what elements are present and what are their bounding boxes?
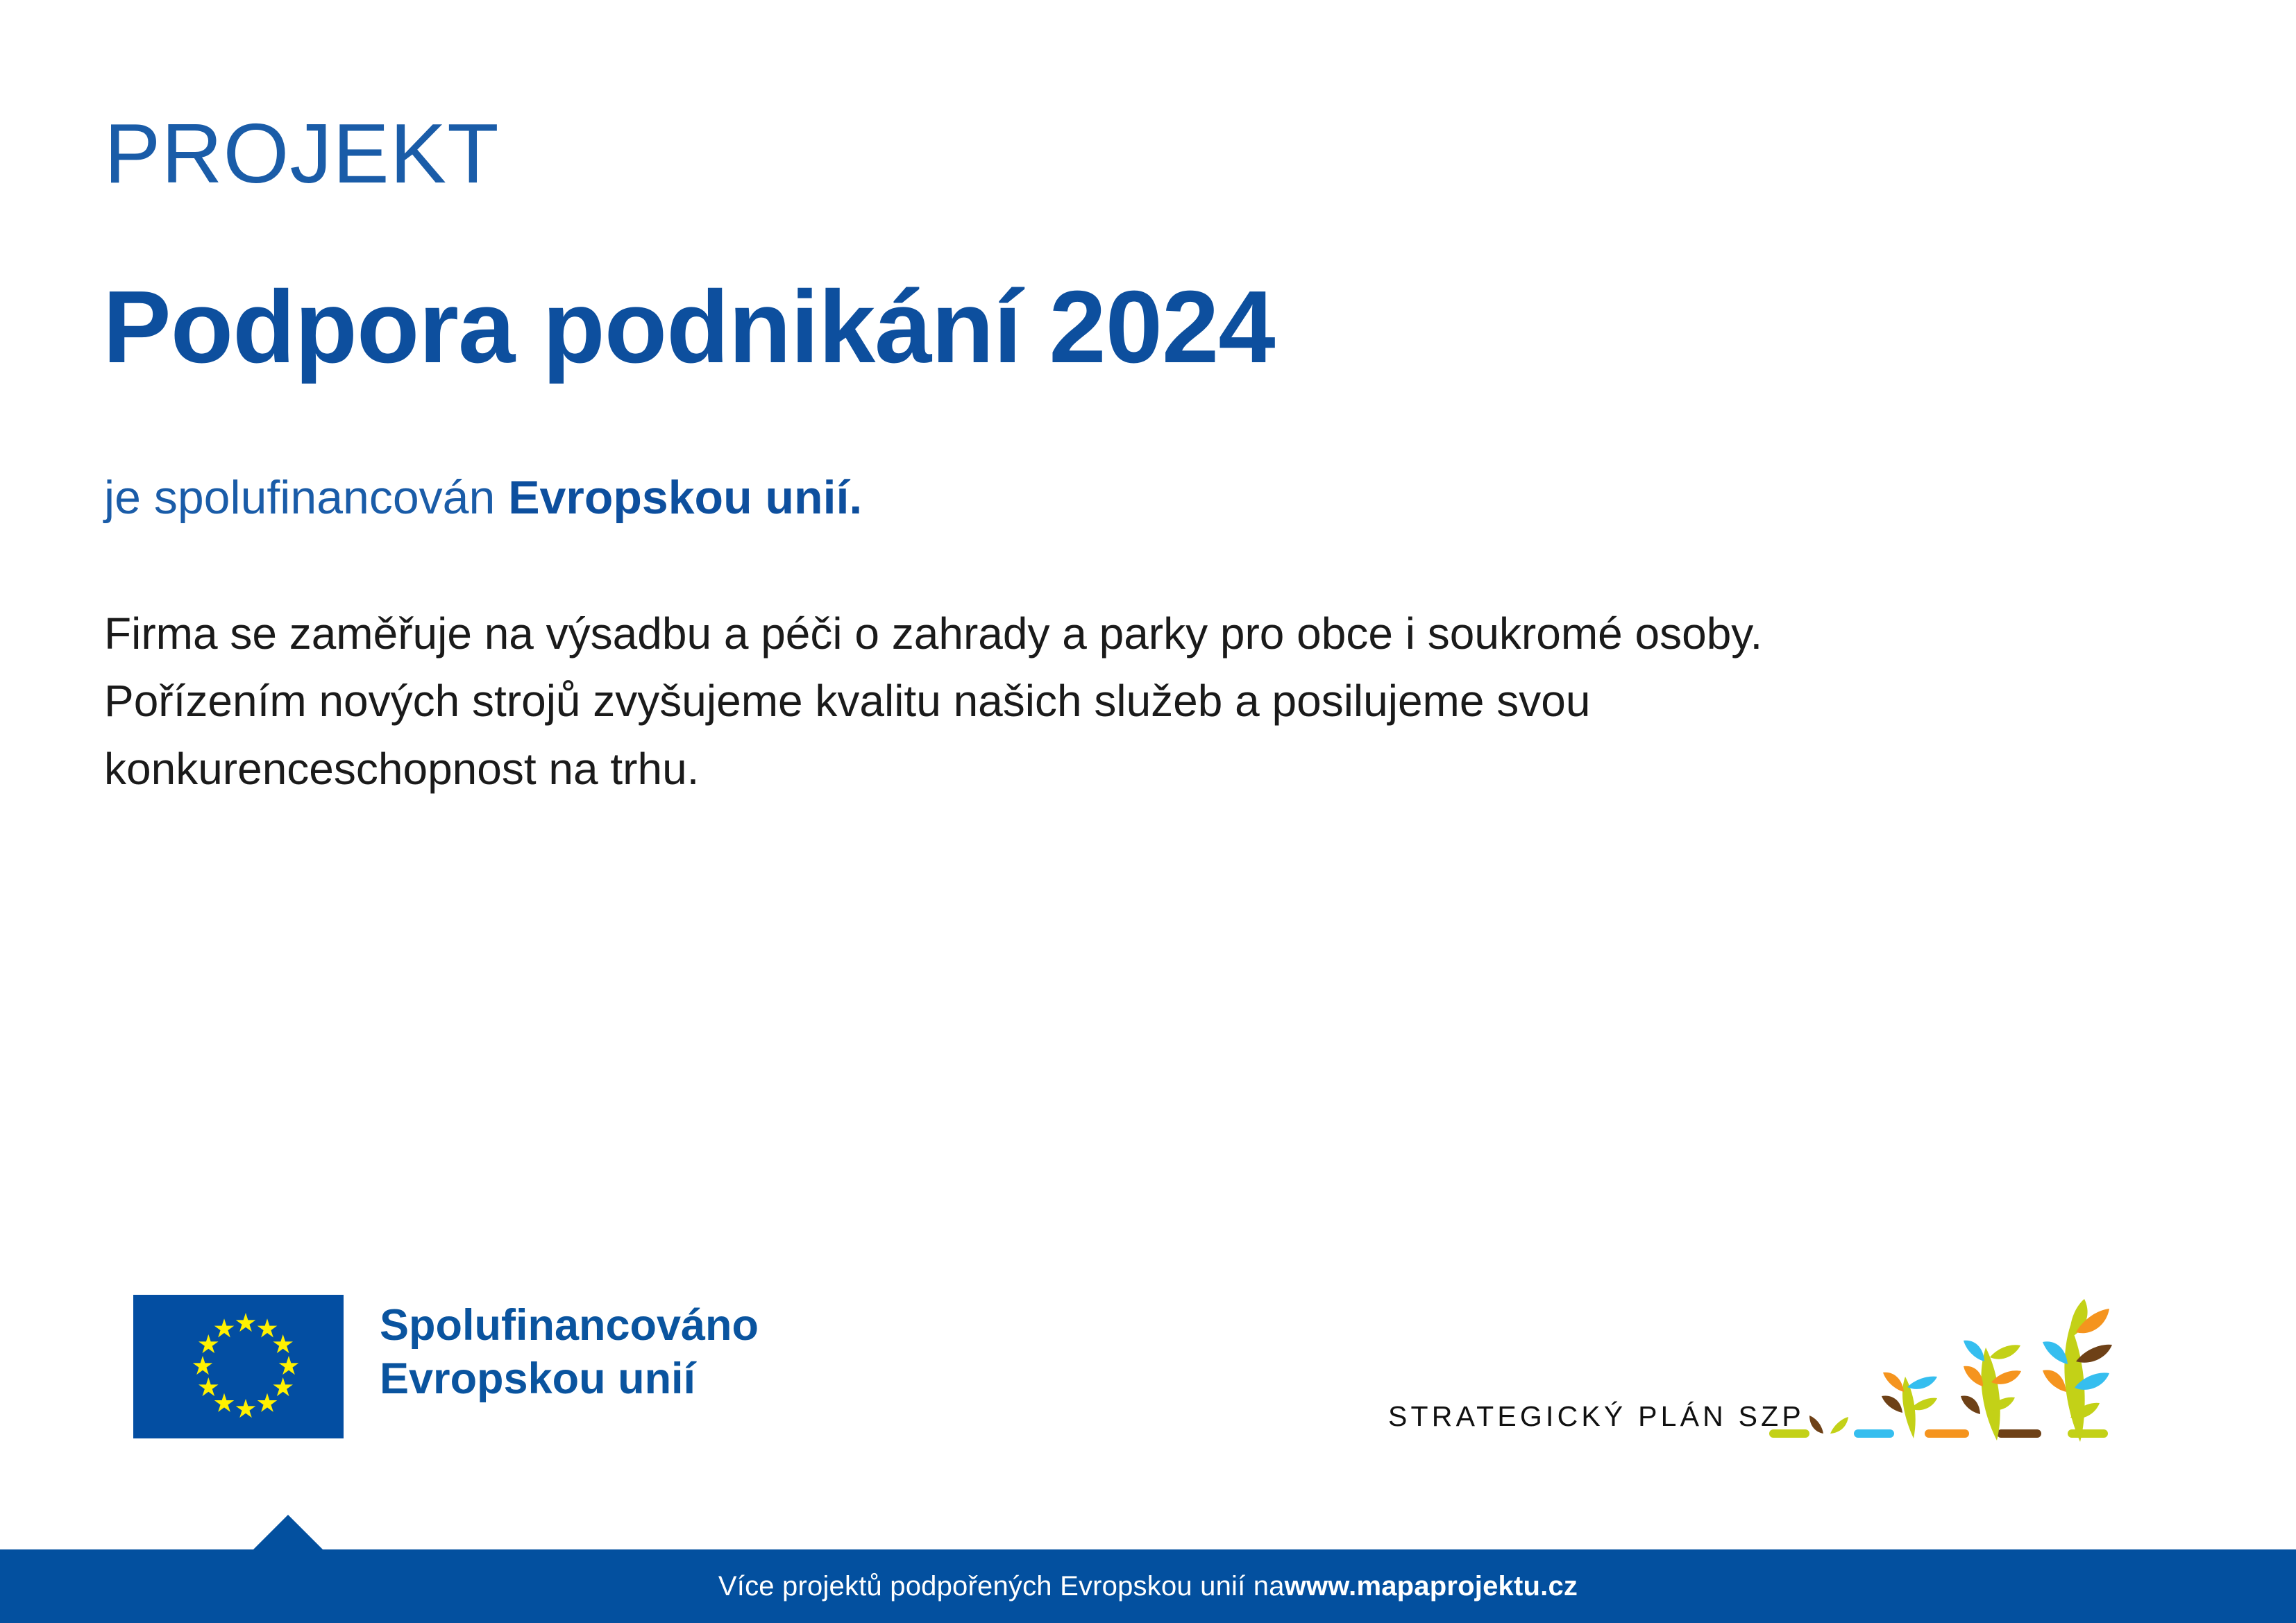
description-line: Firma se zaměřuje na výsadbu a péči o za… xyxy=(104,600,1978,668)
szp-sprout-1 xyxy=(1809,1416,1848,1434)
szp-sprout-2 xyxy=(1882,1373,1937,1438)
szp-plant-icon xyxy=(1766,1289,2155,1449)
footer-notch-triangle xyxy=(253,1515,323,1549)
szp-sprout-4 xyxy=(2043,1299,2112,1442)
funding-statement-bold: Evropskou unií. xyxy=(508,471,862,524)
description-line: Pořízením nových strojů zvyšujeme kvalit… xyxy=(104,668,1978,735)
szp-label: STRATEGICKÝ PLÁN SZP xyxy=(1388,1400,1805,1433)
funding-statement-plain: je spolufinancován xyxy=(104,471,508,524)
description-line: konkurenceschopnost na trhu. xyxy=(104,736,1978,803)
page-title: Podpora podnikání 2024 xyxy=(103,276,1275,379)
szp-sprout-3 xyxy=(1961,1341,2021,1441)
funding-statement: je spolufinancován Evropskou unií. xyxy=(104,474,862,521)
eu-flag-icon xyxy=(133,1295,344,1438)
eu-logo-caption: Spolufinancováno Evropskou unií xyxy=(380,1299,759,1406)
footer-text: Více projektů podpořených Evropskou unií… xyxy=(0,1549,2296,1623)
eu-logo-caption-line2: Evropskou unií xyxy=(380,1352,759,1406)
szp-strategic-plan-logo: STRATEGICKÝ PLÁN SZP xyxy=(1388,1289,2152,1449)
eu-logo-caption-line1: Spolufinancováno xyxy=(380,1299,759,1352)
eu-cofunding-logo: Spolufinancováno Evropskou unií xyxy=(133,1295,759,1438)
footer-website-link[interactable]: www.mapaprojektu.cz xyxy=(1285,1571,1578,1602)
page-kicker: PROJEKT xyxy=(104,111,500,196)
project-description: Firma se zaměřuje na výsadbu a péči o za… xyxy=(104,600,1978,803)
footer-text-plain: Více projektů podpořených Evropskou unií… xyxy=(718,1571,1285,1602)
